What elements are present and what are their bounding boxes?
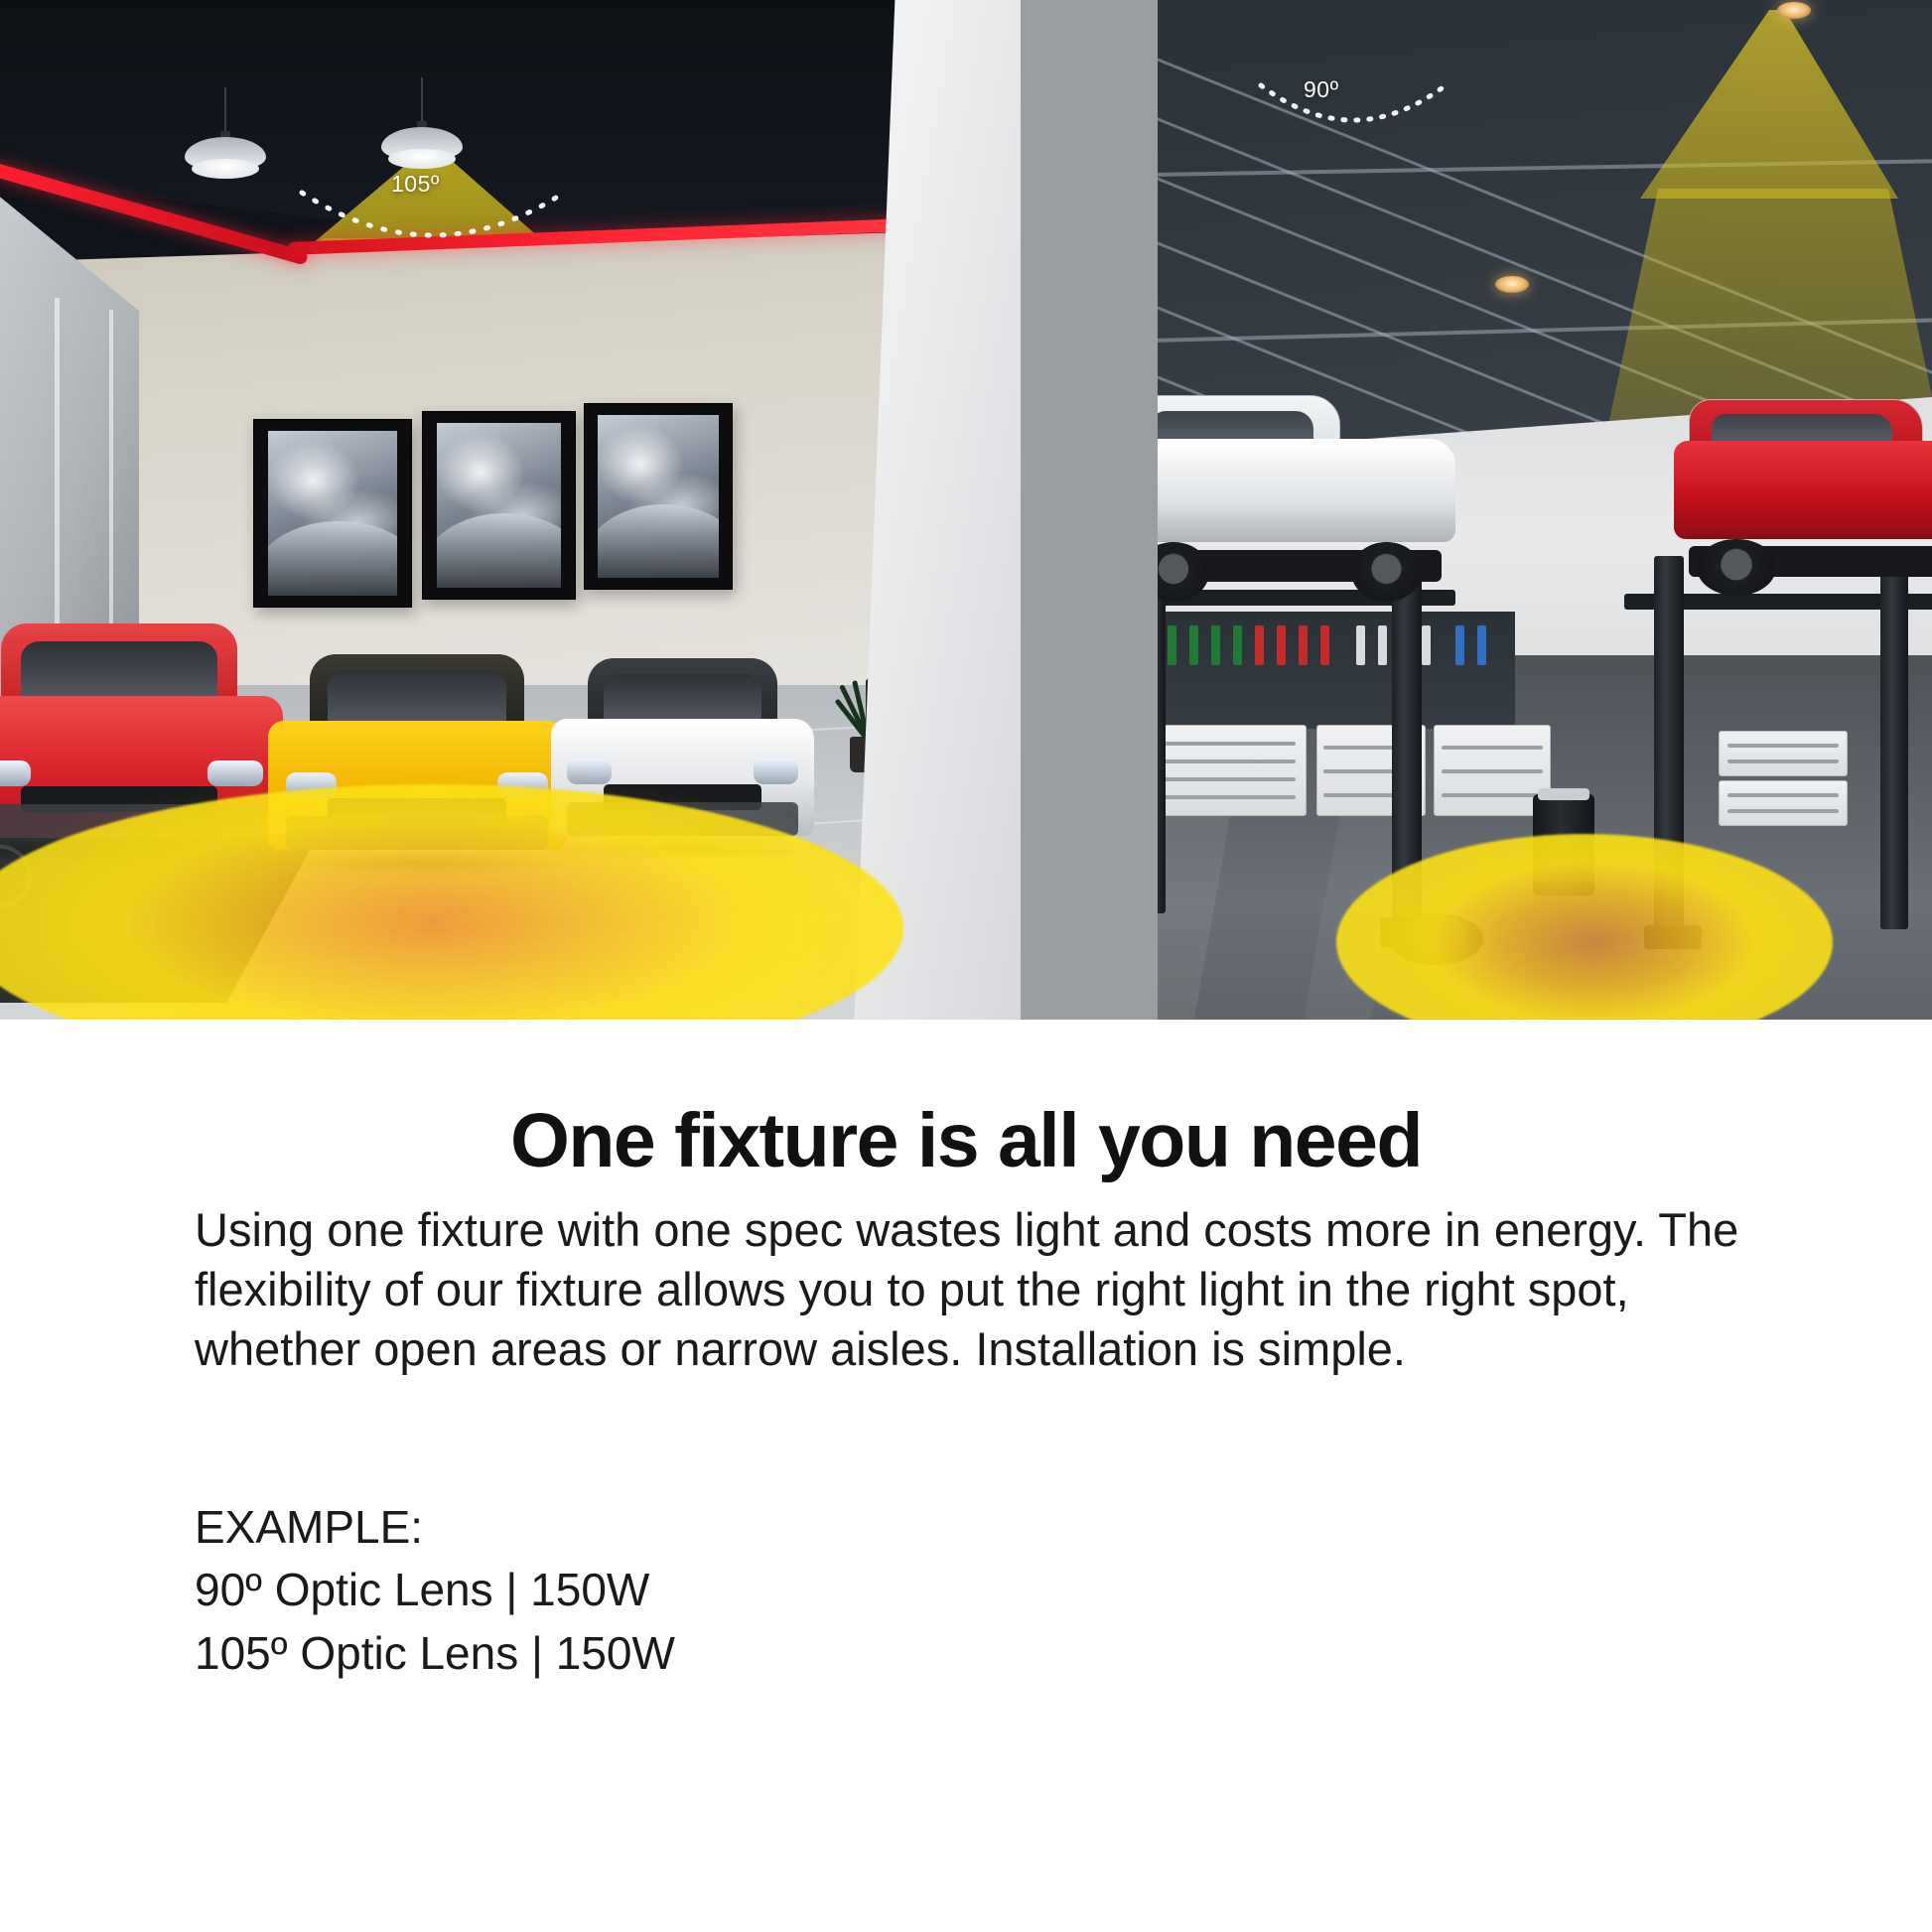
example-block: EXAMPLE: 90º Optic Lens | 150W 105º Opti… (195, 1496, 1386, 1685)
tool-pegboard (1158, 612, 1515, 729)
text-content-block: One fixture is all you need Using one fi… (0, 1020, 1932, 1932)
tool-cabinet (1719, 780, 1848, 826)
example-line-90: 90º Optic Lens | 150W (195, 1559, 1386, 1621)
recessed-downlight (1495, 276, 1529, 293)
lifted-car-red (1674, 399, 1932, 588)
tool-cabinet (1158, 725, 1307, 816)
hero-image-pair: 105º (0, 0, 1932, 1020)
lift-post (1880, 560, 1908, 929)
wall-poster (584, 403, 733, 590)
recessed-downlight-active (1777, 2, 1811, 19)
pendant-luminaire-active (381, 77, 463, 173)
beam-angle-label-90: 90º (1304, 76, 1338, 103)
scene-showroom: 105º (0, 0, 1021, 1020)
page-headline: One fixture is all you need (0, 1097, 1932, 1185)
beam-angle-arc-90 (1257, 81, 1449, 145)
glass-mullion (55, 298, 60, 626)
beam-angle-label-105: 105º (391, 171, 440, 198)
scene-service-garage: 90º (1158, 0, 1932, 1020)
pendant-luminaire (185, 87, 266, 183)
wall-poster (422, 411, 576, 600)
body-paragraph: Using one fixture with one spec wastes l… (195, 1200, 1768, 1379)
wall-poster (253, 419, 412, 608)
beam-angle-arc-105 (298, 187, 568, 264)
image-divider (1021, 0, 1158, 1020)
tool-cabinet (1719, 731, 1848, 776)
lifted-car-white (1158, 395, 1455, 594)
product-feature-page: 105º (0, 0, 1932, 1932)
glass-mullion (109, 310, 113, 627)
example-line-105: 105º Optic Lens | 150W (195, 1622, 1386, 1685)
example-label: EXAMPLE: (195, 1496, 1386, 1559)
lift-post (1158, 556, 1166, 913)
